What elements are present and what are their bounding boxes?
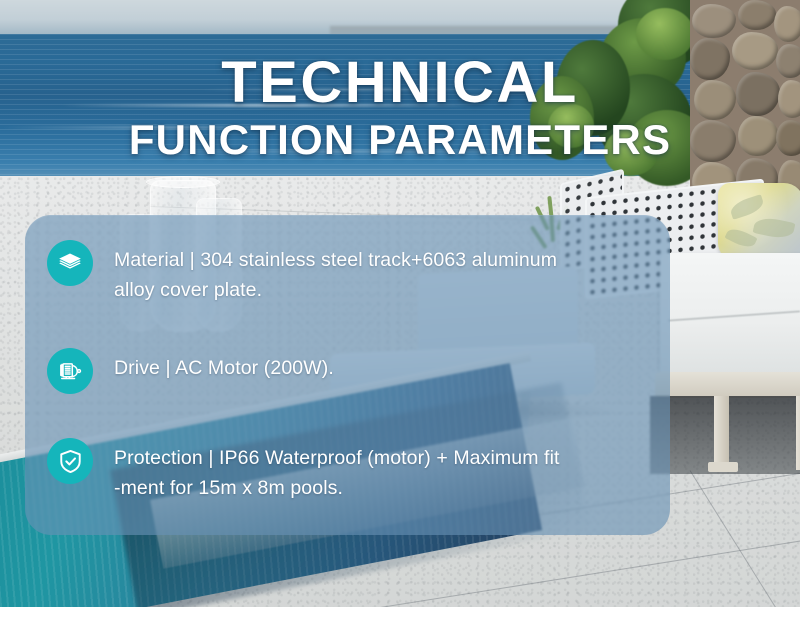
- wall-stone: [692, 4, 736, 38]
- spec-row-protection: Protection | IP66 Waterproof (motor) + M…: [47, 438, 560, 503]
- sea-glint: [0, 126, 330, 129]
- screenshot-root: TECHNICAL FUNCTION PARAMETERS Material |…: [0, 0, 800, 617]
- pillow-pattern: [753, 215, 796, 241]
- wall-stone: [774, 6, 800, 42]
- wall-stone: [776, 120, 800, 156]
- sofa-leg: [714, 396, 729, 470]
- wall-stone: [738, 116, 778, 156]
- shield-check-icon: [47, 438, 93, 484]
- foliage-bush: [636, 8, 694, 60]
- bottom-white-strip: [0, 607, 800, 617]
- yellow-pillow: [718, 183, 800, 261]
- wall-stone: [736, 72, 780, 116]
- electric-motor-icon: [47, 348, 93, 394]
- sofa-base-frame: [655, 372, 800, 398]
- wall-stone: [738, 0, 776, 30]
- wall-stone: [690, 38, 730, 80]
- glass-vase-rim: [146, 176, 220, 188]
- wall-stone: [778, 80, 800, 118]
- wall-stone: [776, 44, 800, 78]
- specs-panel: Material | 304 stainless steel track+606…: [25, 215, 670, 535]
- foliage-bush: [604, 128, 658, 176]
- sea-glint: [60, 104, 480, 107]
- sofa-foot: [708, 462, 738, 472]
- pillow-pattern: [728, 194, 765, 220]
- spec-row-text: Protection | IP66 Waterproof (motor) + M…: [114, 438, 560, 503]
- foliage-bush: [548, 104, 594, 148]
- sea-glint: [120, 150, 590, 153]
- spec-row-text: Drive | AC Motor (200W).: [114, 348, 334, 383]
- layers-icon: [47, 240, 93, 286]
- wall-stone: [694, 80, 736, 120]
- wall-stone: [732, 32, 778, 70]
- spec-row-drive: Drive | AC Motor (200W).: [47, 348, 334, 394]
- sea-glint: [200, 88, 500, 91]
- wall-stone: [690, 120, 736, 162]
- sofa-leg: [796, 396, 800, 470]
- spec-row-material: Material | 304 stainless steel track+606…: [47, 240, 557, 305]
- spec-row-text: Material | 304 stainless steel track+606…: [114, 240, 557, 305]
